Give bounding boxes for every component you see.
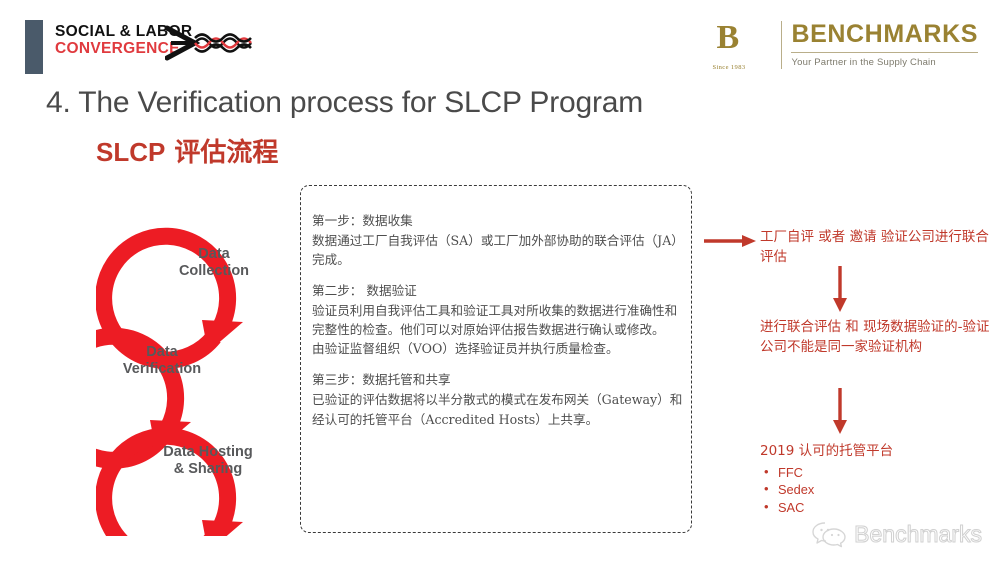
watermark: Benchmarks [812,520,982,548]
step-2-heading: 第二步： 数据验证 [312,282,684,301]
cycle-label-hosting-line1: Data Hosting [138,444,278,461]
arrow-right-icon [704,234,756,248]
page-subtitle-latin: SLCP [96,137,165,167]
step-3-body: 已验证的评估数据将以半分散式的模式在发布网关（Gateway）和经认可的托管平台… [312,390,684,428]
steps-list: 第一步：数据收集 数据通过工厂自我评估（SA）或工厂加外部协助的联合评估（JA）… [312,212,684,442]
flow-block-1: 工厂自评 或者 邀请 验证公司进行联合评估 [760,228,992,267]
step-2-body: 验证员利用自我评估工具和验证工具对所收集的数据进行准确性和完整性的检查。他们可以… [312,301,684,339]
benchmarks-logo-divider [781,21,782,69]
cycle-label-verification-line2: Verification [98,361,226,378]
benchmarks-tagline: Your Partner in the Supply Chain [791,57,978,68]
benchmarks-monogram: B Since 1983 [710,17,772,73]
page-title: 4. The Verification process for SLCP Pro… [46,86,643,120]
list-item: FFC [762,464,992,482]
flow-block-3: 2019 认可的托管平台 FFC Sedex SAC [760,442,992,517]
slcp-logo: SOCIAL & LABOR CONVERGENCE [25,18,257,76]
cycle-label-verification: Data Verification [98,344,226,378]
list-item: Sedex [762,481,992,499]
benchmarks-logo: B Since 1983 BENCHMARKS Your Partner in … [710,16,978,74]
benchmarks-monogram-letter: B [716,19,737,57]
flow-block-2: 进行联合评估 和 现场数据验证的-验证公司不能是同一家验证机构 [760,318,992,357]
flow-block-3-heading: 2019 认可的托管平台 [760,442,992,462]
benchmarks-name: BENCHMARKS [791,22,978,47]
cycle-label-hosting: Data Hosting & Sharing [138,444,278,478]
wechat-bubble-icon [812,520,846,548]
watermark-text: Benchmarks [854,521,982,548]
step-3-heading: 第三步：数据托管和共享 [312,371,684,390]
cycle-label-hosting-line2: & Sharing [138,461,278,478]
step-item-3: 第三步：数据托管和共享 已验证的评估数据将以半分散式的模式在发布网关（Gatew… [312,371,684,428]
step-1-heading: 第一步：数据收集 [312,212,684,231]
list-item: SAC [762,499,992,517]
step-2-body-extra: 由验证监督组织（VOO）选择验证员并执行质量检查。 [312,339,684,358]
cycle-label-verification-line1: Data [98,344,226,361]
slcp-weave-icon [165,24,257,64]
step-item-1: 第一步：数据收集 数据通过工厂自我评估（SA）或工厂加外部协助的联合评估（JA）… [312,212,684,269]
page-subtitle-cjk: 评估流程 [165,138,278,168]
slide-root: SOCIAL & LABOR CONVERGENCE B Since 1983 … [0,0,1000,562]
page-subtitle: SLCP 评估流程 [96,132,278,169]
step-1-body: 数据通过工厂自我评估（SA）或工厂加外部协助的联合评估（JA）完成。 [312,231,684,269]
benchmarks-wordmark: BENCHMARKS Your Partner in the Supply Ch… [791,22,978,68]
arrow-down-icon-2 [832,388,848,434]
cycle-diagram: Data Collection Data Verification Data H… [96,196,296,536]
accredited-hosts-list: FFC Sedex SAC [760,464,992,517]
cycle-label-collection-line1: Data [154,246,274,263]
cycle-label-collection: Data Collection [154,246,274,280]
step-item-2: 第二步： 数据验证 验证员利用自我评估工具和验证工具对所收集的数据进行准确性和完… [312,282,684,358]
benchmarks-since-label: Since 1983 [712,64,745,71]
benchmarks-rule [791,52,978,53]
arrow-down-icon-1 [832,266,848,312]
slcp-logo-bar [25,20,43,74]
cycle-label-collection-line2: Collection [154,263,274,280]
